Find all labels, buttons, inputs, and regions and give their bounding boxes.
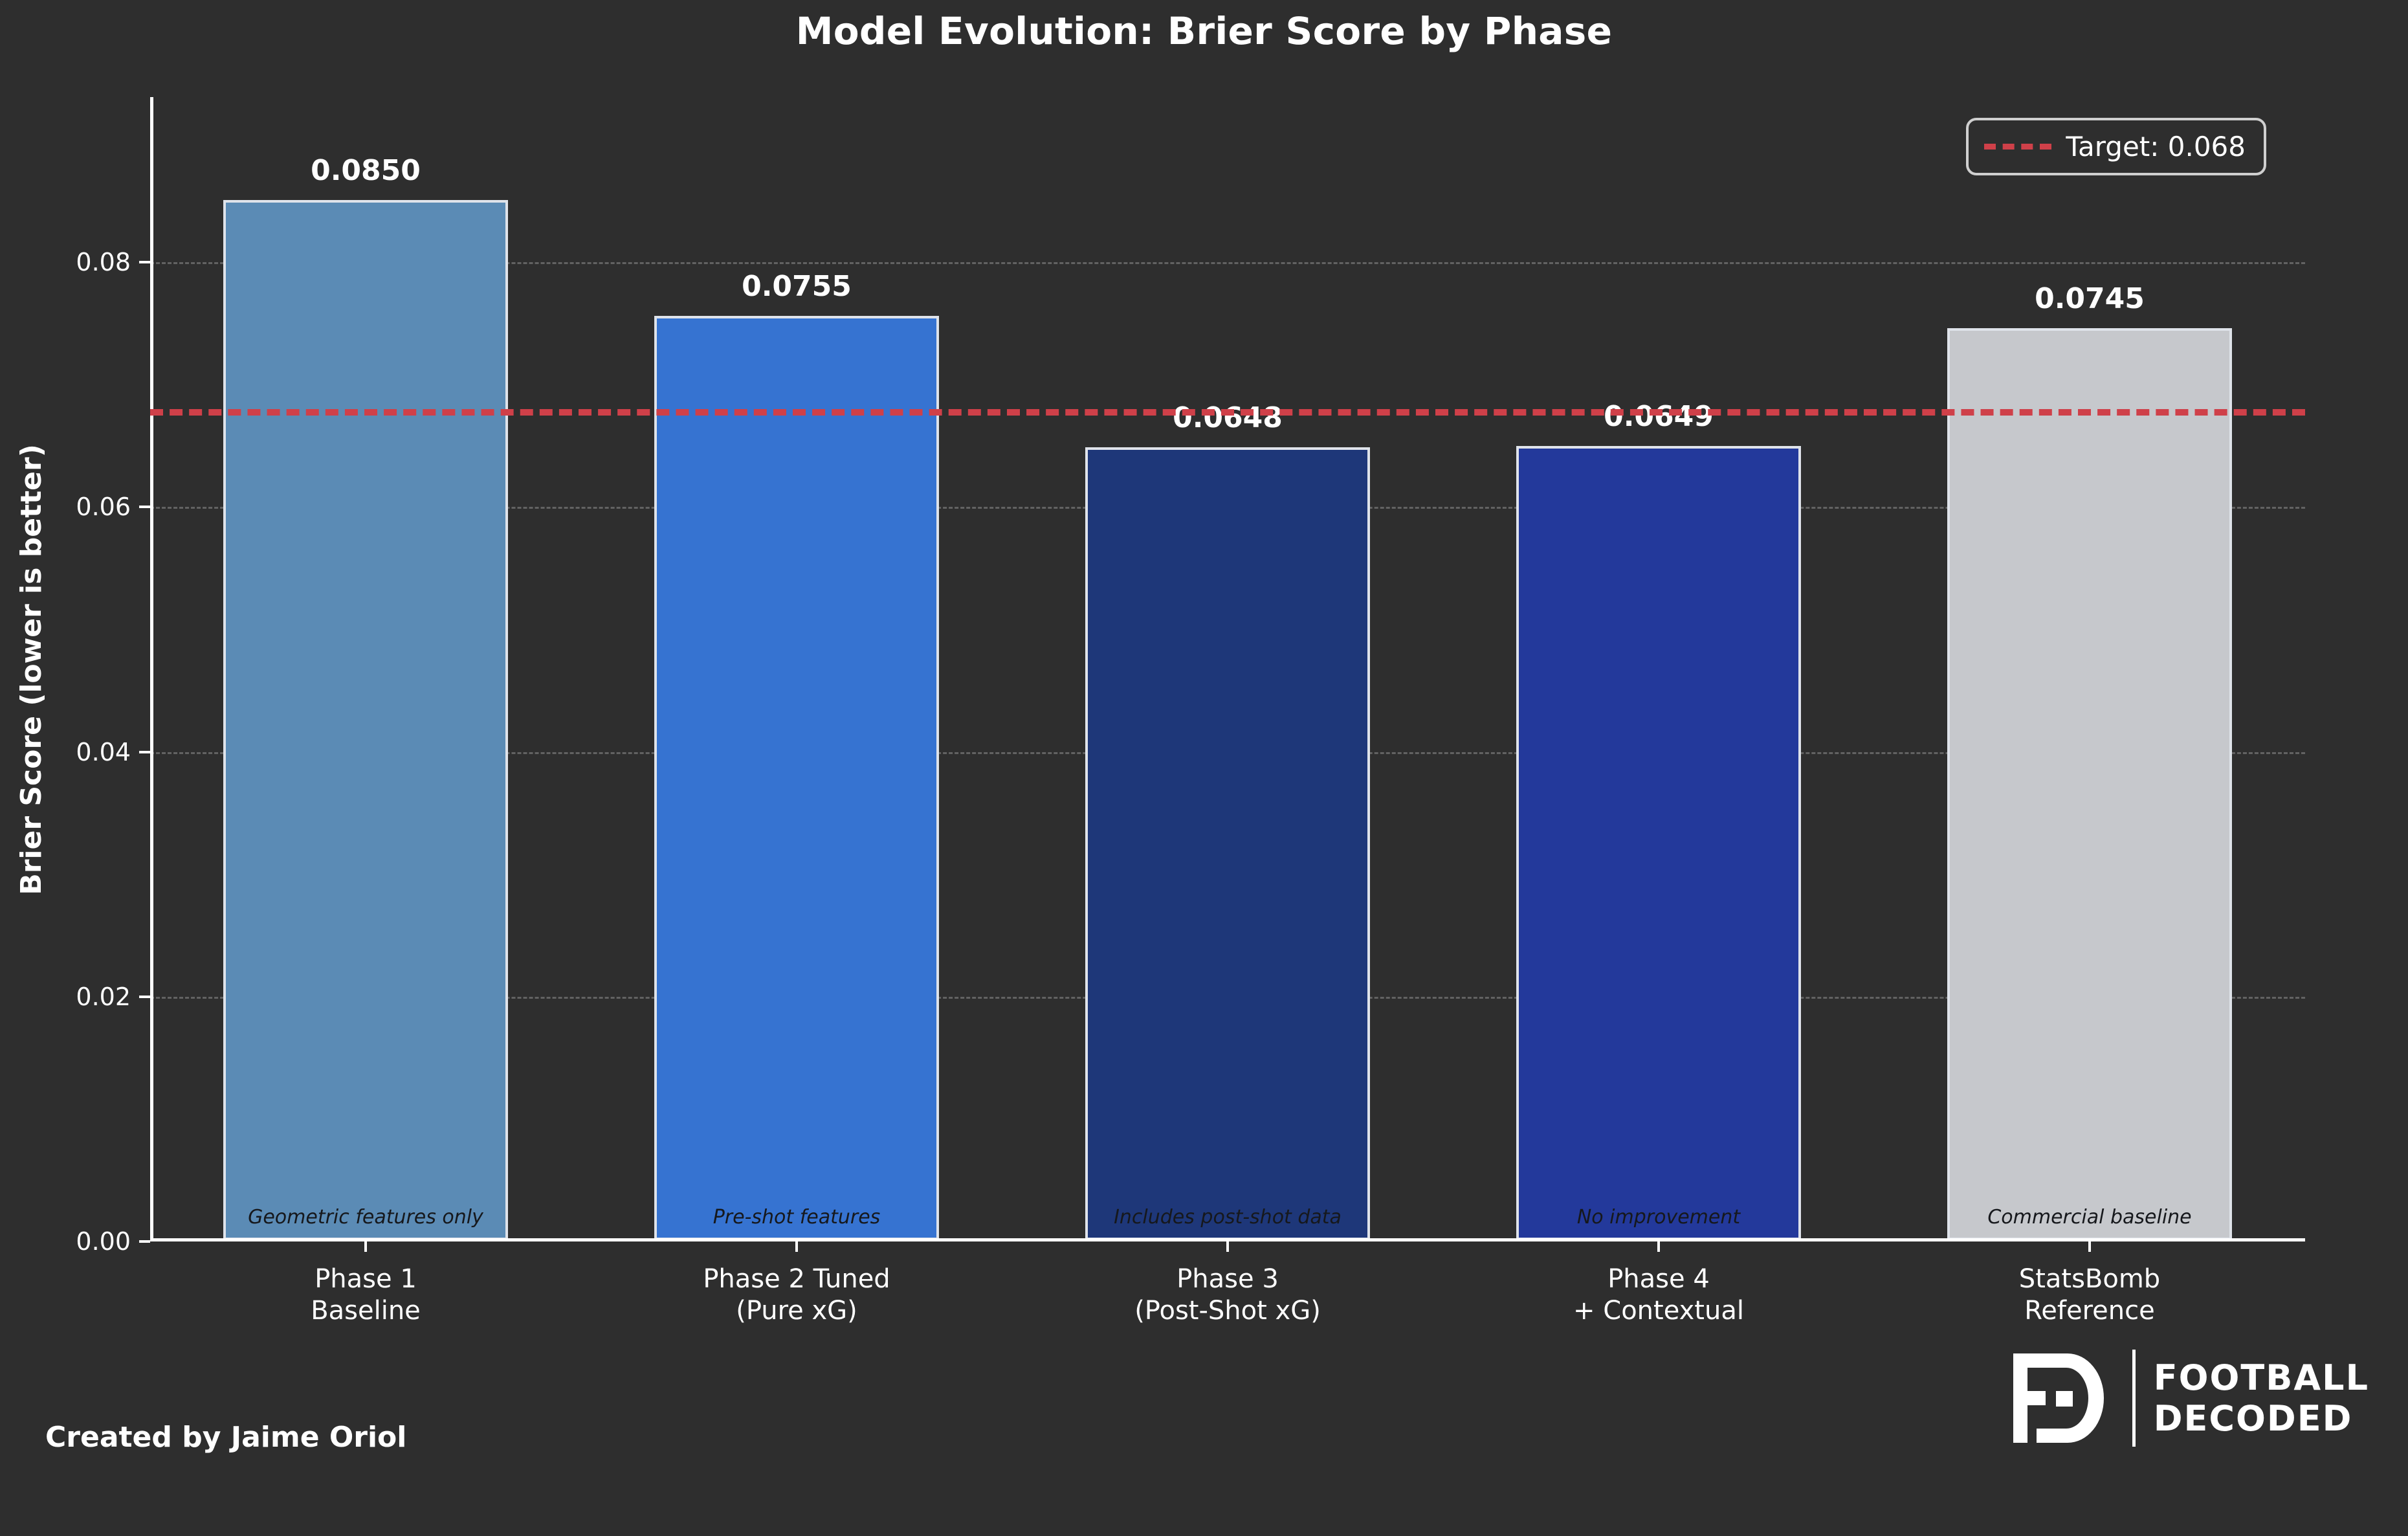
x-tick-label-line2: + Contextual — [1573, 1295, 1744, 1327]
y-tick-mark — [139, 1240, 150, 1243]
bar[interactable]: Geometric features only — [223, 200, 508, 1240]
bar-annotation: Geometric features only — [226, 1206, 505, 1229]
y-axis-spine — [150, 97, 153, 1241]
bar-value-label: 0.0648 — [1085, 401, 1370, 434]
chart-figure: Model Evolution: Brier Score by Phase Br… — [0, 0, 2408, 1536]
bar[interactable]: No improvement — [1516, 446, 1801, 1240]
fd-monogram-icon — [2011, 1350, 2114, 1447]
y-axis-title-text: Brier Score (lower is better) — [15, 444, 48, 895]
plot-inner: 0.000.020.040.060.08 Geometric features … — [150, 97, 2305, 1241]
logo-divider — [2132, 1350, 2136, 1447]
x-tick-label-line2: (Pure xG) — [703, 1295, 890, 1327]
bar-value-label: 0.0755 — [654, 270, 939, 303]
bar-value-label: 0.0649 — [1516, 400, 1801, 433]
logo-line-1: FOOTBALL — [2154, 1360, 2369, 1396]
plot-area: 0.000.020.040.060.08 Geometric features … — [150, 97, 2305, 1241]
x-tick-label-line1: Phase 1 — [311, 1263, 421, 1295]
bar-annotation: No improvement — [1519, 1206, 1798, 1229]
x-tick-label: Phase 1Baseline — [311, 1263, 421, 1327]
x-tick-mark — [2088, 1241, 2091, 1252]
page-title: Model Evolution: Brier Score by Phase — [0, 9, 2408, 53]
bar-annotation: Pre-shot features — [657, 1206, 936, 1229]
legend-target-line-icon — [1984, 144, 2051, 150]
bar-value-label: 0.0850 — [223, 154, 508, 187]
x-tick-label-line2: Reference — [2019, 1295, 2160, 1327]
logo-wordmark: FOOTBALL DECODED — [2154, 1360, 2369, 1436]
x-tick-label: Phase 4+ Contextual — [1573, 1263, 1744, 1327]
y-tick-label: 0.06 — [76, 493, 131, 521]
y-tick-mark — [139, 996, 150, 998]
x-tick-mark — [1657, 1241, 1660, 1252]
bar-value-label: 0.0745 — [1947, 282, 2232, 315]
x-tick-label-line1: Phase 4 — [1573, 1263, 1744, 1295]
x-tick-label-line1: Phase 3 — [1134, 1263, 1321, 1295]
bar[interactable]: Pre-shot features — [654, 316, 939, 1240]
x-tick-label-line1: Phase 2 Tuned — [703, 1263, 890, 1295]
bar[interactable]: Includes post-shot data — [1085, 447, 1370, 1240]
y-tick-mark — [139, 751, 150, 753]
y-tick-label: 0.08 — [76, 248, 131, 276]
x-tick-label: Phase 3(Post-Shot xG) — [1134, 1263, 1321, 1327]
y-tick-label: 0.04 — [76, 738, 131, 766]
x-tick-label-line1: StatsBomb — [2019, 1263, 2160, 1295]
football-decoded-logo: FOOTBALL DECODED — [2011, 1343, 2369, 1453]
y-tick-mark — [139, 261, 150, 263]
y-tick-label: 0.00 — [76, 1227, 131, 1256]
legend-label: Target: 0.068 — [2066, 131, 2246, 162]
legend[interactable]: Target: 0.068 — [1966, 118, 2266, 175]
x-axis-spine — [150, 1238, 2305, 1241]
x-tick-mark — [364, 1241, 367, 1252]
credit-text: Created by Jaime Oriol — [45, 1421, 406, 1454]
x-tick-mark — [1226, 1241, 1229, 1252]
x-tick-label-line2: (Post-Shot xG) — [1134, 1295, 1321, 1327]
y-tick-mark — [139, 506, 150, 508]
x-tick-mark — [795, 1241, 798, 1252]
logo-line-2: DECODED — [2154, 1401, 2369, 1436]
x-tick-label: StatsBombReference — [2019, 1263, 2160, 1327]
y-axis-title: Brier Score (lower is better) — [12, 97, 50, 1241]
x-tick-label: Phase 2 Tuned(Pure xG) — [703, 1263, 890, 1327]
bar[interactable]: Commercial baseline — [1947, 328, 2232, 1240]
x-tick-label-line2: Baseline — [311, 1295, 421, 1327]
y-tick-label: 0.02 — [76, 983, 131, 1011]
bar-annotation: Includes post-shot data — [1088, 1206, 1367, 1229]
target-reference-line — [150, 409, 2305, 416]
bar-annotation: Commercial baseline — [1950, 1206, 2229, 1229]
